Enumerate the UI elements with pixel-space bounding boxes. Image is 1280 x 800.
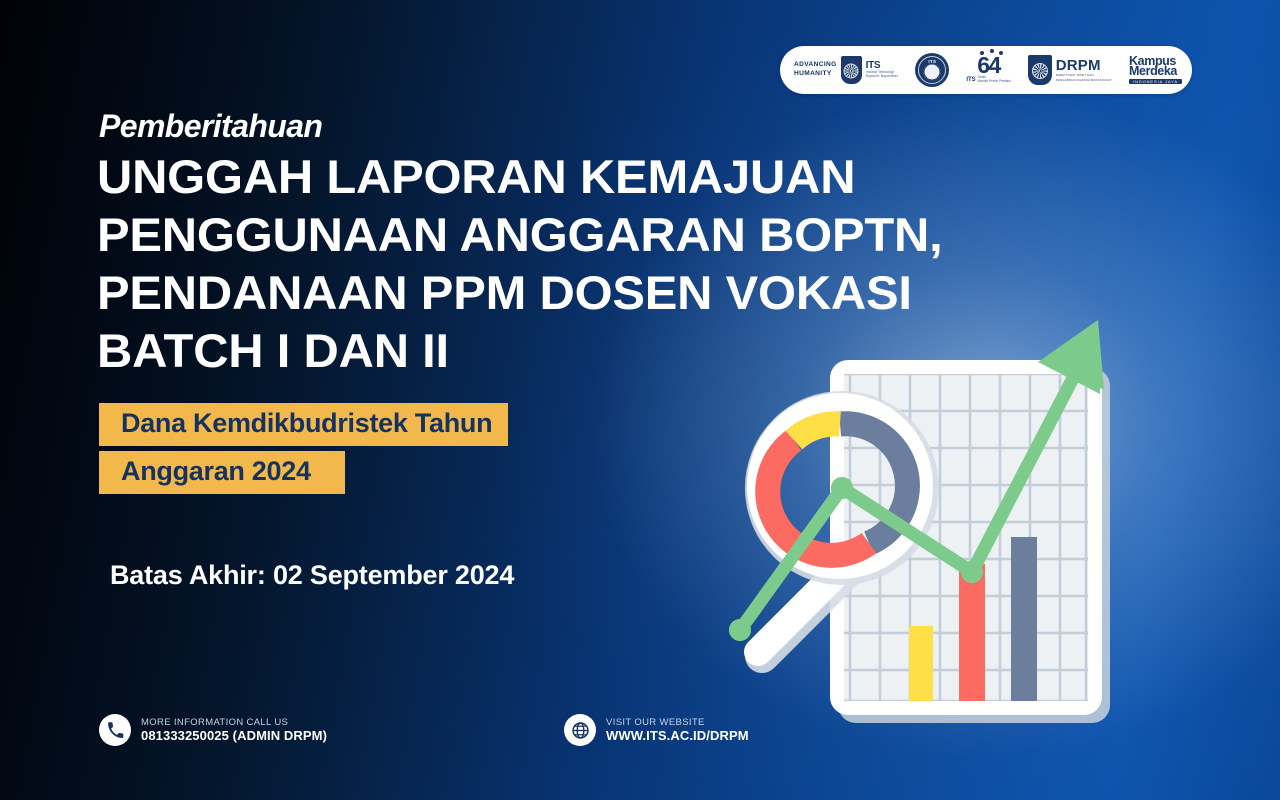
chart-bar-red	[959, 564, 985, 701]
headline-line-1: UNGGAH LAPORAN KEMAJUAN	[97, 148, 1012, 206]
statistics-illustration	[700, 282, 1160, 742]
kampus-merdeka-line2: Merdeka	[1129, 66, 1177, 77]
anniversary-brand: ITS	[966, 77, 975, 83]
logo-advancing-humanity-its: ADVANCING HUMANITY ITS Institut Teknolog…	[794, 56, 898, 84]
chart-trend-vertex-0	[729, 619, 751, 641]
logo-kampus-merdeka: Kampus Merdeka INDONESIA JAYA	[1129, 56, 1178, 85]
contact-phone-label: MORE INFORMATION CALL US	[141, 717, 327, 728]
contact-phone-text: MORE INFORMATION CALL US 081333250025 (A…	[141, 717, 327, 744]
funding-highlight-line-1: Dana Kemdikbudristek Tahun	[99, 403, 508, 446]
contact-phone-value: 081333250025 (ADMIN DRPM)	[141, 728, 327, 743]
funding-highlight-line-2: Anggaran 2024	[99, 451, 345, 494]
anniversary-sub2: Mandiri Penuh Prestasi	[978, 80, 1011, 84]
phone-icon	[99, 714, 131, 746]
advancing-humanity-text: ADVANCING HUMANITY	[794, 61, 837, 78]
anniversary-number: 64	[977, 56, 999, 75]
globe-icon	[564, 714, 596, 746]
kampus-merdeka-bar: INDONESIA JAYA	[1129, 79, 1182, 84]
footer-contacts: MORE INFORMATION CALL US 081333250025 (A…	[99, 714, 749, 746]
drpm-wordmark: DRPM DIREKTORAT RISET DAN PENGABDIAN KEP…	[1056, 58, 1112, 81]
funding-highlight: Dana Kemdikbudristek Tahun Anggaran 2024	[99, 403, 508, 499]
partner-logo-bar: ADVANCING HUMANITY ITS Institut Teknolog…	[780, 46, 1192, 94]
chart-bar-yellow	[909, 626, 933, 701]
logo-64th-anniversary: 64 ITS Diraih Mandiri Penuh Prestasi	[966, 56, 1010, 83]
anniversary-dots-icon	[978, 51, 998, 56]
deadline-text: Batas Akhir: 02 September 2024	[110, 560, 514, 591]
its-rise-up-seal-icon: ITS	[915, 53, 949, 87]
advancing-humanity-line1: ADVANCING	[794, 61, 837, 70]
its-wordmark: ITS Institut Teknologi Sepuluh Nopember	[866, 61, 899, 78]
chart-bar-slate	[1011, 537, 1037, 701]
advancing-humanity-line2: HUMANITY	[794, 70, 837, 79]
seal-top-text: ITS	[915, 59, 949, 64]
drpm-title: DRPM	[1056, 58, 1112, 73]
its-wordmark-sub2: Sepuluh Nopember	[866, 75, 899, 79]
poster-canvas: ADVANCING HUMANITY ITS Institut Teknolog…	[0, 0, 1280, 800]
headline-line-2: PENGGUNAAN ANGGARAN BOPTN,	[97, 206, 1012, 264]
drpm-shield-icon	[1028, 55, 1052, 85]
logo-drpm: DRPM DIREKTORAT RISET DAN PENGABDIAN KEP…	[1028, 55, 1112, 85]
chart-illustration-svg	[700, 282, 1160, 742]
drpm-sub2: PENGABDIAN KEPADA MASYARAKAT	[1056, 78, 1112, 82]
kicker-label: Pemberitahuan	[99, 108, 322, 145]
contact-phone: MORE INFORMATION CALL US 081333250025 (A…	[99, 714, 327, 746]
its-shield-icon	[841, 56, 862, 84]
